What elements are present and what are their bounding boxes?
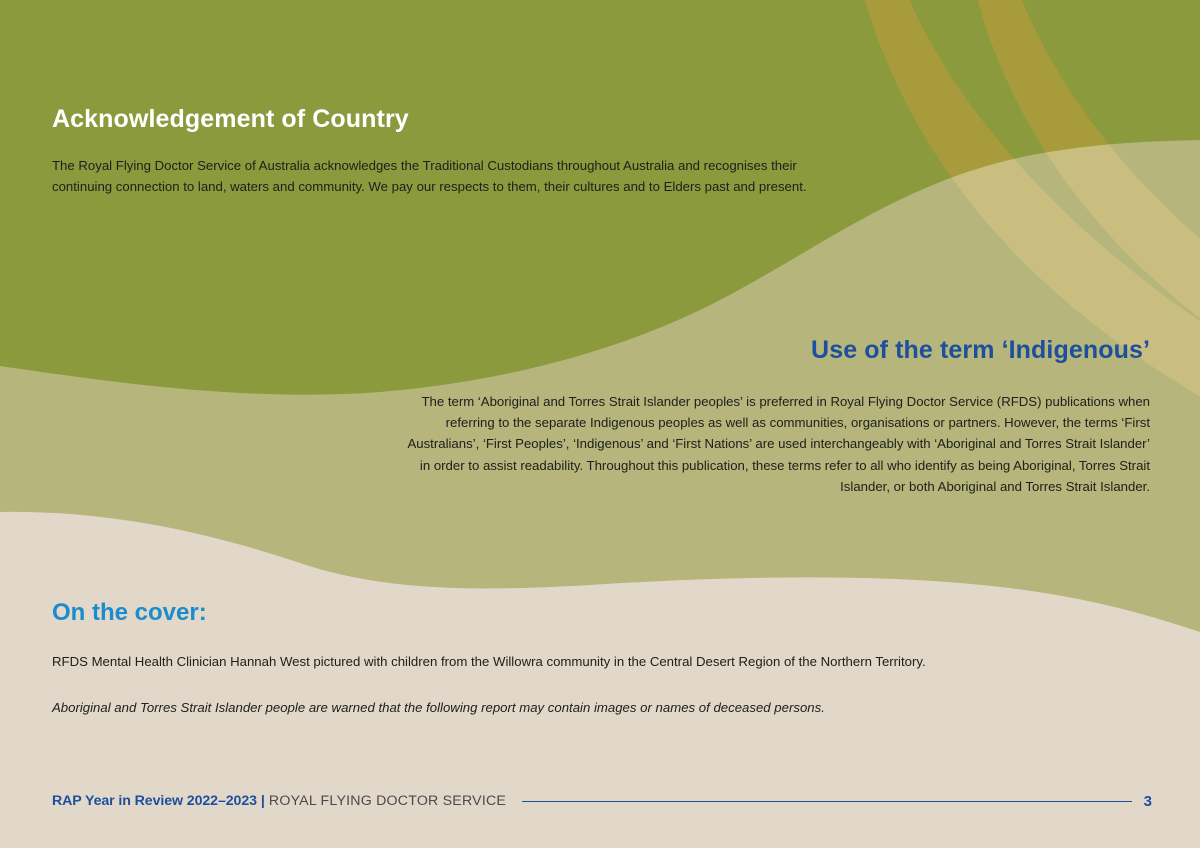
use-of-term-indigenous-section: Use of the term ‘Indigenous’ The term ‘A… [400, 337, 1150, 497]
page-content: Acknowledgement of Country The Royal Fly… [0, 0, 1200, 848]
footer-divider-rule [522, 801, 1132, 802]
footer-organisation-name: ROYAL FLYING DOCTOR SERVICE [269, 793, 506, 809]
page-number: 3 [1144, 793, 1152, 810]
on-the-cover-heading: On the cover: [52, 600, 1152, 626]
document-page: Acknowledgement of Country The Royal Fly… [0, 0, 1200, 848]
footer-publication-title: RAP Year in Review 2022–2023 [52, 793, 257, 809]
acknowledgement-of-country-section: Acknowledgement of Country The Royal Fly… [52, 106, 812, 198]
page-footer: RAP Year in Review 2022–2023 | ROYAL FLY… [52, 789, 1152, 813]
on-the-cover-section: On the cover: RFDS Mental Health Clinici… [52, 600, 1152, 718]
acknowledgement-body-text: The Royal Flying Doctor Service of Austr… [52, 155, 812, 198]
cultural-warning-text: Aboriginal and Torres Strait Islander pe… [52, 697, 1152, 718]
acknowledgement-heading: Acknowledgement of Country [52, 106, 812, 134]
indigenous-heading: Use of the term ‘Indigenous’ [400, 337, 1150, 365]
indigenous-body-text: The term ‘Aboriginal and Torres Strait I… [400, 391, 1150, 498]
footer-separator: | [257, 793, 269, 809]
cover-caption-text: RFDS Mental Health Clinician Hannah West… [52, 651, 1152, 672]
